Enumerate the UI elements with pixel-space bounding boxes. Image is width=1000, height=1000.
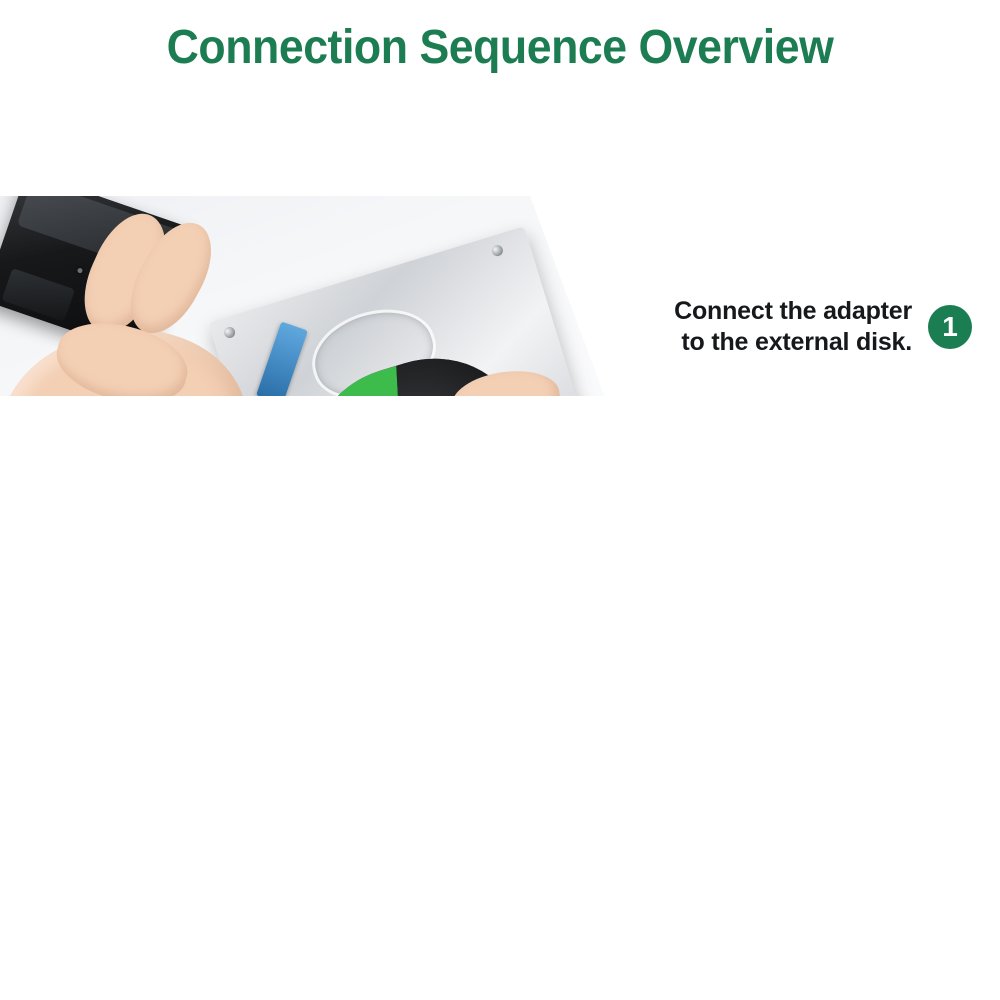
step-1-photo: SEAGATE BARRACUDA <box>0 196 640 396</box>
step-1-line-2: to the external disk. <box>674 327 912 358</box>
step-1-line-1: Connect the adapter <box>674 296 912 327</box>
adapter-grip-panel <box>2 268 75 322</box>
infographic-page: Connection Sequence Overview SEAGATE BAR… <box>0 0 1000 1000</box>
step-3-panel: SEAGATE Plug in the USB porton PC/laptop… <box>0 700 1000 1000</box>
adapter-led-indicator <box>77 267 83 273</box>
step-1-panel: SEAGATE BARRACUDA <box>0 96 1000 396</box>
hdd-screw <box>223 326 237 340</box>
page-title: Connection Sequence Overview <box>35 22 965 75</box>
step-1-caption: Connect the adapter to the external disk… <box>674 296 972 357</box>
step-1-badge: 1 <box>928 305 972 349</box>
step-1-text: Connect the adapter to the external disk… <box>674 296 912 357</box>
step-2-panel: SEAGATE <box>0 400 1000 700</box>
hdd-screw <box>491 244 505 258</box>
